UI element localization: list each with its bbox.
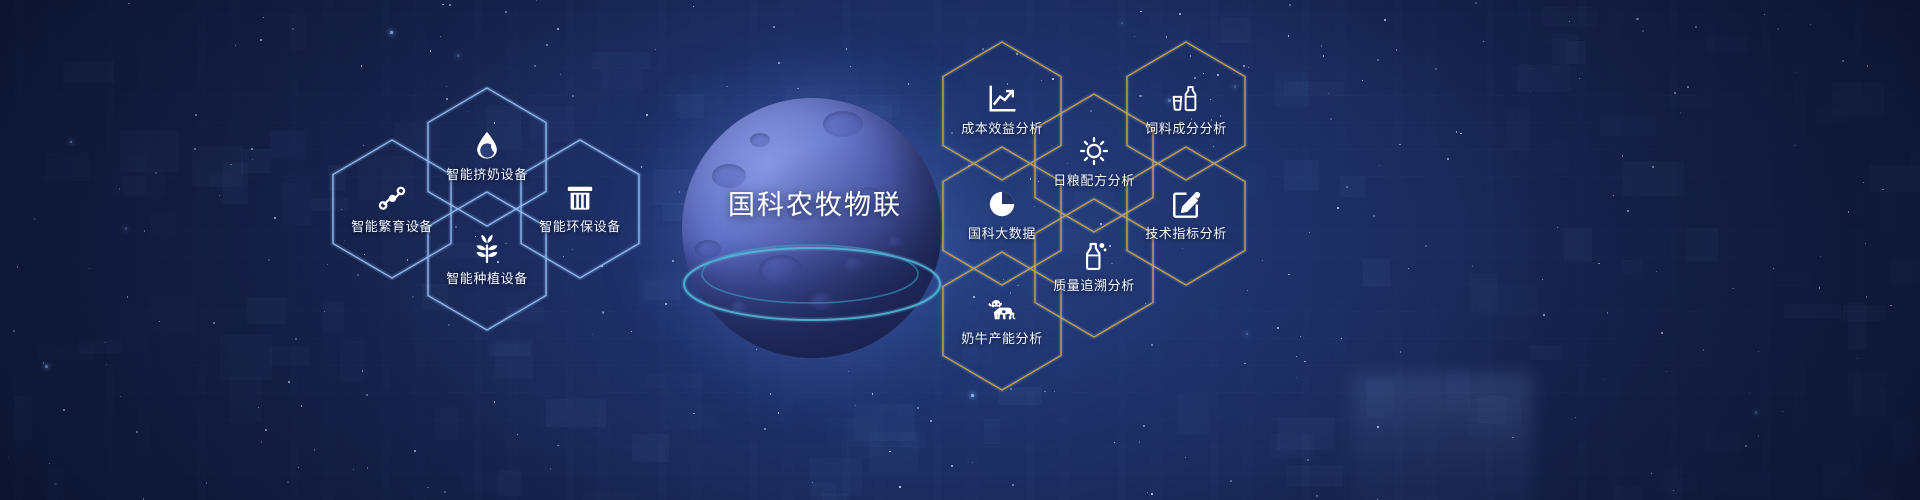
plant-sprout-icon xyxy=(472,234,502,264)
line-chart-icon xyxy=(987,84,1017,114)
pie-chart-icon xyxy=(987,189,1017,219)
center-sphere-group xyxy=(652,88,972,388)
nodes-network-icon xyxy=(377,182,407,212)
hex-label: 日粮配方分析 xyxy=(1053,175,1135,188)
hex-label: 奶牛产能分析 xyxy=(961,333,1043,346)
cow-icon xyxy=(987,294,1017,324)
light-beam xyxy=(1352,373,1532,500)
orbit-ring xyxy=(652,88,972,388)
trash-bin-icon xyxy=(565,182,595,212)
page-title: 国科农牧物联 xyxy=(690,183,940,222)
hero-banner: 国科农牧物联 智能繁育设备 智能挤奶设备 智能种植设备 智能环保设备 xyxy=(0,0,1920,500)
hex-label: 成本效益分析 xyxy=(961,123,1043,136)
milk-bottle-icon xyxy=(1079,241,1109,271)
hex-label: 技术指标分析 xyxy=(1145,228,1227,241)
edit-pencil-icon xyxy=(1171,189,1201,219)
hex-label: 智能挤奶设备 xyxy=(446,169,528,182)
hex-label: 质量追溯分析 xyxy=(1053,280,1135,293)
hex-label: 饲料成分分析 xyxy=(1145,123,1227,136)
water-drop-icon xyxy=(472,130,502,160)
hex-label: 国科大数据 xyxy=(968,228,1036,241)
hex-label: 智能繁育设备 xyxy=(351,221,433,234)
hex-label: 智能种植设备 xyxy=(446,273,528,286)
milk-bottle-glass-icon xyxy=(1171,84,1201,114)
sun-icon xyxy=(1079,136,1109,166)
hex-label: 智能环保设备 xyxy=(539,221,621,234)
